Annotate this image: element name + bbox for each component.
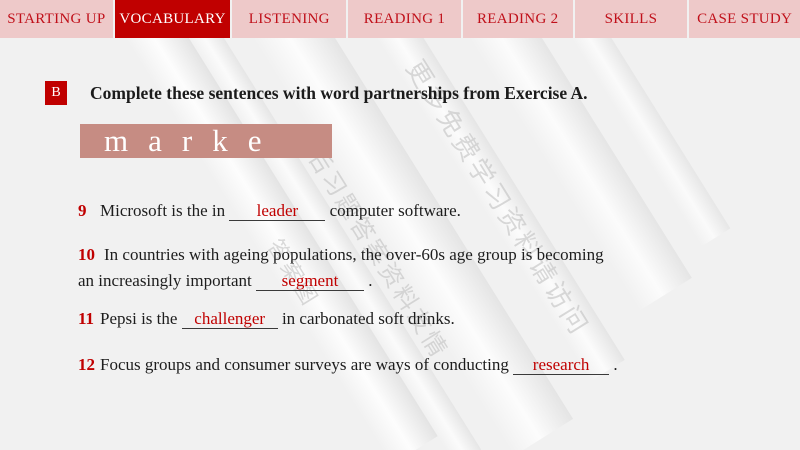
question-text-before: an increasingly important: [78, 271, 256, 290]
question-text-after: .: [609, 355, 618, 374]
exercise-badge: B: [45, 81, 67, 105]
tab-vocabulary[interactable]: VOCABULARY: [115, 0, 231, 38]
question-text-after: .: [364, 271, 373, 290]
tab-reading-2[interactable]: READING 2: [463, 0, 573, 38]
section-tab-bar: STARTING UP VOCABULARY LISTENING READING…: [0, 0, 800, 38]
question-line2: an increasingly important segment .: [78, 268, 708, 293]
answer-blank-10[interactable]: segment: [256, 271, 364, 291]
question-item-11: 11 Pepsi is the challenger in carbonated…: [78, 306, 455, 331]
question-number: 9: [78, 198, 100, 223]
tab-label: READING 2: [477, 11, 558, 28]
tab-label: CASE STUDY: [697, 11, 792, 28]
question-text-after: computer software.: [325, 201, 460, 220]
question-number: 11: [78, 306, 100, 331]
tab-skills[interactable]: SKILLS: [575, 0, 688, 38]
slide-content: B Complete these sentences with word par…: [0, 38, 800, 450]
tab-label: READING 1: [364, 11, 445, 28]
word-banner-text: marke: [104, 124, 281, 158]
answer-blank-9[interactable]: leader: [229, 201, 325, 221]
answer-blank-12[interactable]: research: [513, 355, 609, 375]
tab-label: SKILLS: [605, 11, 658, 28]
tab-reading-1[interactable]: READING 1: [348, 0, 461, 38]
question-text-after: in carbonated soft drinks.: [278, 309, 455, 328]
exercise-instruction-row: B Complete these sentences with word par…: [45, 81, 588, 105]
tab-label: LISTENING: [249, 11, 330, 28]
word-banner: marke: [80, 124, 332, 158]
question-text-before: Microsoft is the in: [100, 201, 229, 220]
question-number: 10: [78, 242, 104, 267]
tab-case-study[interactable]: CASE STUDY: [689, 0, 800, 38]
question-number: 12: [78, 352, 100, 377]
answer-blank-11[interactable]: challenger: [182, 309, 278, 329]
tab-label: STARTING UP: [7, 11, 105, 28]
question-item-12: 12 Focus groups and consumer surveys are…: [78, 352, 618, 377]
question-text-line1: In countries with ageing populations, th…: [104, 245, 608, 264]
question-item-9: 9 Microsoft is the in leader computer so…: [78, 198, 461, 223]
question-item-10: 10 In countries with ageing populations,…: [78, 242, 708, 293]
tab-starting-up[interactable]: STARTING UP: [0, 0, 113, 38]
exercise-instruction: Complete these sentences with word partn…: [90, 83, 588, 104]
question-text-before: Pepsi is the: [100, 309, 182, 328]
question-text-before: Focus groups and consumer surveys are wa…: [100, 355, 513, 374]
tab-listening[interactable]: LISTENING: [232, 0, 346, 38]
tab-label: VOCABULARY: [119, 11, 225, 28]
